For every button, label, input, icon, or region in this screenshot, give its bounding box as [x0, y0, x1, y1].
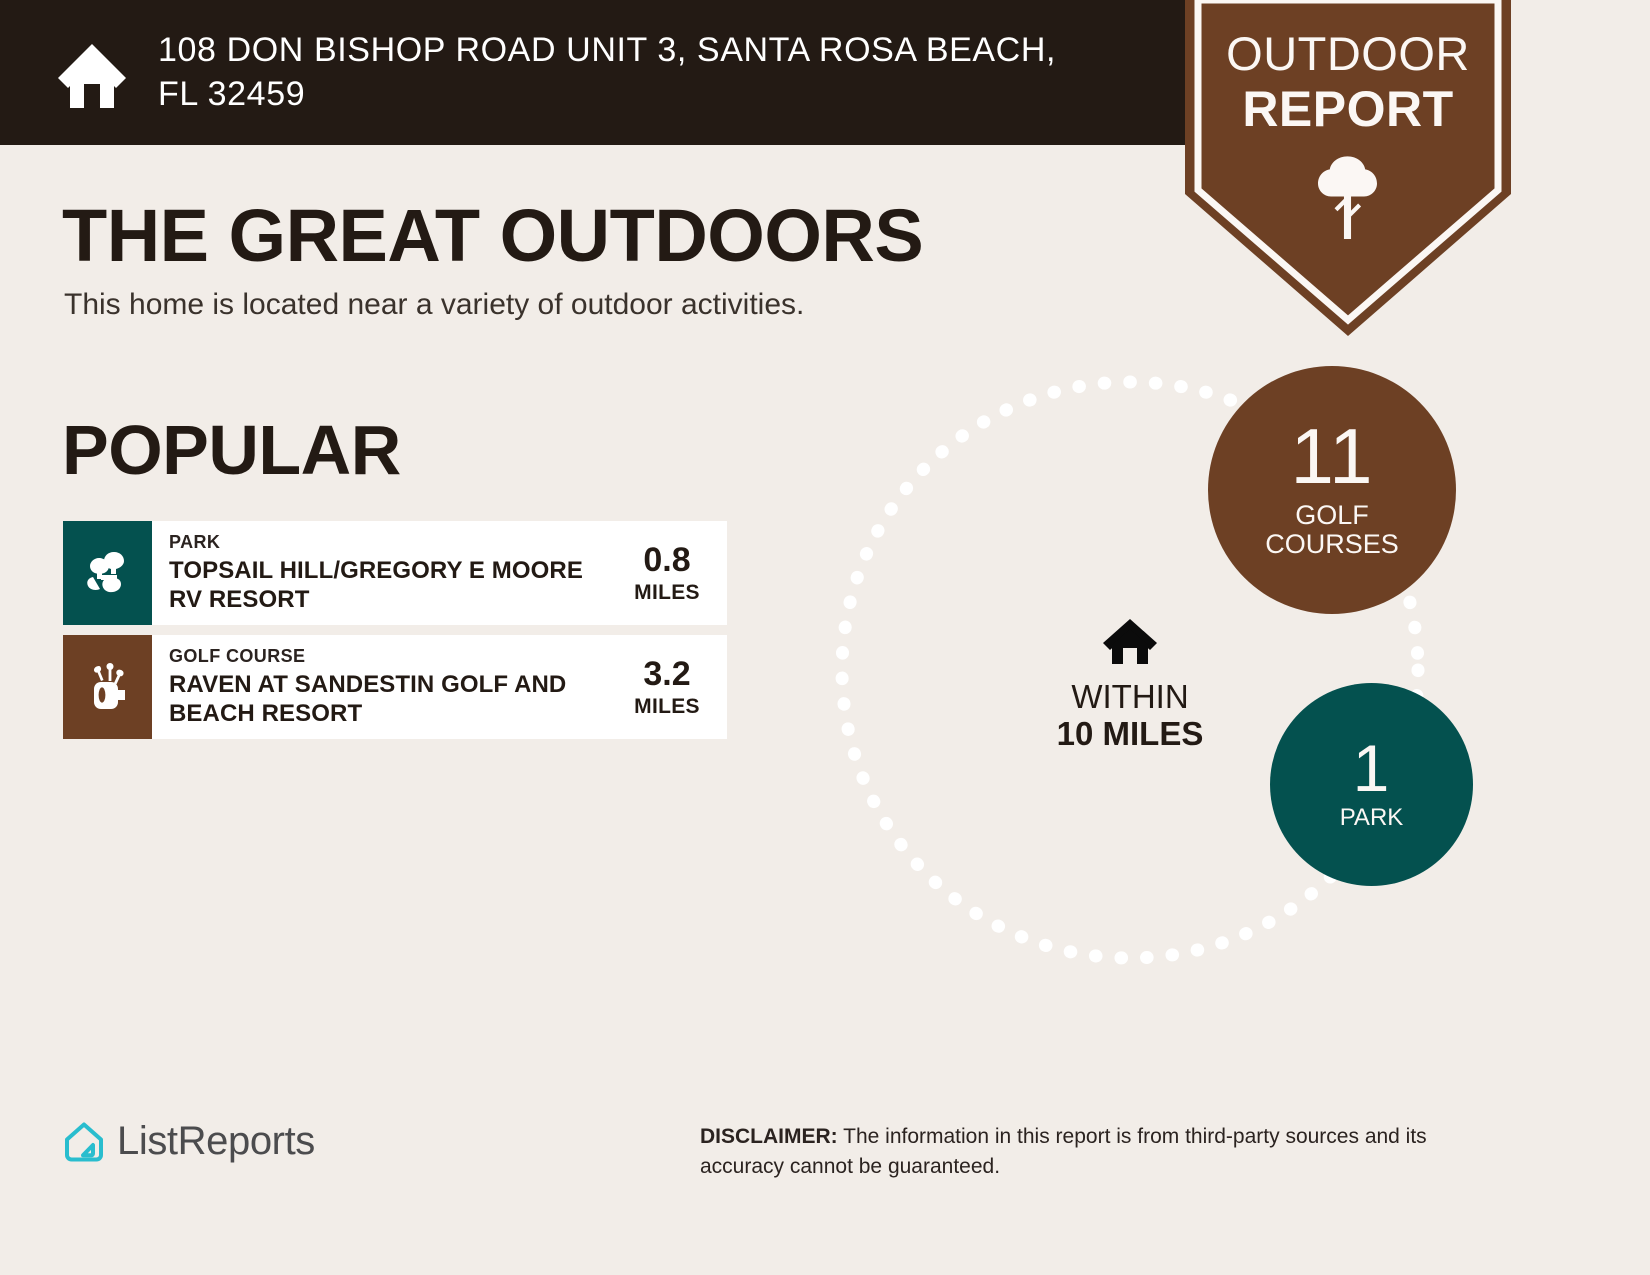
disclaimer: DISCLAIMER: The information in this repo…	[700, 1122, 1512, 1182]
list-item-distance: 3.2 MILES	[619, 635, 727, 739]
list-item-body: PARK TOPSAIL HILL/GREGORY E MOORE RV RES…	[152, 521, 619, 625]
property-address: 108 DON BISHOP ROAD UNIT 3, SANTA ROSA B…	[158, 29, 1088, 116]
popular-list: PARK TOPSAIL HILL/GREGORY E MOORE RV RES…	[63, 521, 727, 749]
list-item-name: RAVEN AT SANDESTIN GOLF AND BEACH RESORT	[169, 670, 613, 729]
list-item[interactable]: GOLF COURSE RAVEN AT SANDESTIN GOLF AND …	[63, 635, 727, 739]
list-item-body: GOLF COURSE RAVEN AT SANDESTIN GOLF AND …	[152, 635, 619, 739]
list-item-category: GOLF COURSE	[169, 646, 613, 668]
stat-circle-parks[interactable]: 1 PARK	[1270, 683, 1473, 886]
list-item-distance-value: 3.2	[643, 657, 690, 691]
list-item-distance-value: 0.8	[643, 543, 690, 577]
list-item-name: TOPSAIL HILL/GREGORY E MOORE RV RESORT	[169, 556, 613, 615]
stat-circle-golf-courses[interactable]: 11 GOLF COURSES	[1208, 366, 1456, 614]
home-icon	[1101, 652, 1159, 669]
center-property-marker: WITHIN 10 MILES	[1040, 617, 1220, 753]
stat-label-line2: COURSES	[1265, 530, 1399, 559]
outdoor-report-badge: OUTDOOR REPORT	[1185, 0, 1511, 336]
stat-label: GOLF COURSES	[1265, 501, 1399, 559]
list-item-distance-unit: MILES	[634, 696, 700, 717]
listreports-house-icon	[62, 1120, 117, 1164]
within-value: 10 MILES	[1040, 716, 1220, 753]
list-item[interactable]: PARK TOPSAIL HILL/GREGORY E MOORE RV RES…	[63, 521, 727, 625]
header-bar: 108 DON BISHOP ROAD UNIT 3, SANTA ROSA B…	[0, 0, 1190, 145]
stat-count: 11	[1291, 421, 1374, 493]
disclaimer-label: DISCLAIMER:	[700, 1125, 838, 1148]
page-title: THE GREAT OUTDOORS	[62, 193, 923, 278]
within-label: WITHIN	[1040, 679, 1220, 716]
park-icon	[63, 521, 152, 625]
golf-bag-icon	[63, 635, 152, 739]
section-title-popular: POPULAR	[62, 410, 401, 490]
list-item-distance-unit: MILES	[634, 582, 700, 603]
home-icon	[56, 40, 128, 110]
page-subtitle: This home is located near a variety of o…	[64, 288, 804, 322]
stat-count: 1	[1353, 738, 1391, 799]
outdoor-report-page: 108 DON BISHOP ROAD UNIT 3, SANTA ROSA B…	[0, 0, 1650, 1275]
listreports-wordmark: ListReports	[117, 1119, 315, 1164]
listreports-logo[interactable]: ListReports	[62, 1119, 315, 1164]
stat-label: PARK	[1340, 805, 1404, 831]
stat-label-line1: GOLF	[1265, 501, 1399, 530]
list-item-distance: 0.8 MILES	[619, 521, 727, 625]
list-item-category: PARK	[169, 532, 613, 554]
